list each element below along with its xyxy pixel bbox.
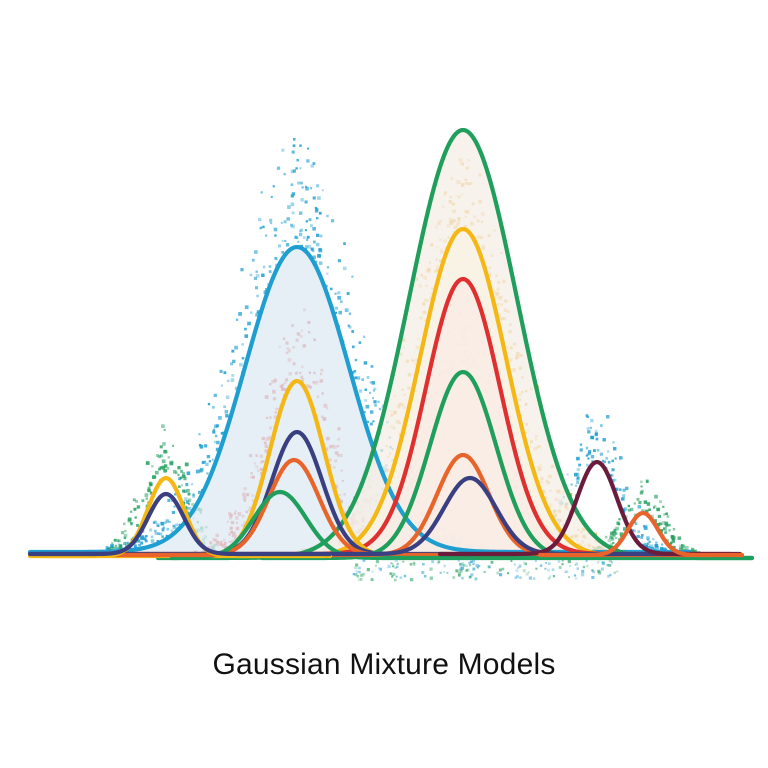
stipple-dot [400,576,403,579]
stipple-dot [231,350,234,353]
stipple-dot [569,565,571,567]
stipple-dot [167,499,170,502]
stipple-dot [185,462,189,466]
stipple-dot [679,545,683,549]
stipple-dot [140,537,143,540]
stipple-dot [310,224,313,227]
stipple-dot [352,346,355,349]
stipple-dot [337,291,340,294]
stipple-dot [602,561,604,563]
stipple-dot [309,218,312,221]
stipple-dot [196,470,200,474]
stipple-dot [287,205,291,209]
stipple-dot [609,574,611,576]
stipple-dot [510,560,512,562]
stipple-dot [295,167,297,169]
stipple-dot [359,341,362,344]
stipple-dot [297,182,300,185]
stipple-dot [258,218,261,221]
stipple-dot [371,365,374,368]
stipple-dot [281,149,284,152]
stipple-dot [354,376,357,379]
stipple-dot [499,568,502,571]
stipple-dot [355,563,358,566]
stipple-dot [358,567,361,570]
stipple-dot [231,374,234,377]
stipple-dot [318,248,322,252]
stipple-dot [611,537,614,540]
stipple-dot [257,312,259,314]
stipple-dot [581,570,584,573]
stipple-dot [611,460,614,463]
stipple-dot [157,532,160,535]
stipple-dot [297,241,299,243]
stipple-dot [157,525,159,527]
stipple-dot [260,227,263,230]
stipple-dot [356,567,358,569]
stipple-dot [455,569,458,572]
stipple-dot [431,560,434,563]
stipple-dot [327,266,329,268]
stipple-dot [548,562,551,565]
stipple-dot [231,378,235,382]
stipple-dot [181,484,183,486]
stipple-dot [299,144,301,146]
stipple-dot [173,525,176,528]
stipple-dot [575,577,577,579]
stipple-dot [396,576,398,578]
stipple-dot [250,274,253,277]
stipple-dot [664,531,667,534]
stipple-dot [213,429,215,431]
stipple-dot [465,570,467,572]
stipple-dot [306,239,308,241]
stipple-dot [496,572,499,575]
stipple-dot [612,441,614,443]
stipple-dot [261,274,264,277]
stipple-dot [662,506,664,508]
stipple-dot [161,535,163,537]
stipple-dot [199,444,202,447]
stipple-dot [422,563,425,566]
stipple-dot [404,575,406,577]
stipple-dot [294,236,297,239]
stipple-dot [153,522,155,524]
stipple-dot [667,515,670,518]
stipple-dot [291,194,294,197]
stipple-dot [252,259,255,262]
stipple-dot [322,189,324,191]
stipple-dot [519,576,522,579]
stipple-dot [370,410,373,413]
stipple-dot [561,563,564,566]
stipple-dot [114,539,117,542]
stipple-dot [607,450,609,452]
stipple-dot [166,519,169,522]
stipple-dot [173,506,175,508]
stipple-dot [640,491,643,494]
stipple-dot [273,185,275,187]
stipple-dot [491,561,494,564]
stipple-dot [209,460,211,462]
stipple-dot [256,295,259,298]
stipple-dot [117,540,120,543]
curve-strokes [30,130,752,558]
stipple-dot [358,571,360,573]
stipple-dot [182,489,185,492]
stipple-dot [655,541,657,543]
stipple-dot [600,424,603,427]
stipple-dot [387,565,390,568]
stipple-dot [367,568,370,571]
stipple-dot [291,170,294,173]
stipple-dot [637,530,640,533]
stipple-dot [586,560,588,562]
stipple-dot [593,449,596,452]
stipple-dot [438,560,440,562]
stipple-dot [669,529,671,531]
stipple-dot [663,513,665,515]
stipple-dot [351,276,353,278]
stipple-dot [145,535,147,537]
stipple-dot [343,267,347,271]
stipple-dot [281,222,283,224]
stipple-dot [608,461,611,464]
stipple-dot [191,483,193,485]
stipple-dot [590,419,593,422]
stipple-dot [242,357,245,360]
stipple-dot [204,444,207,447]
stipple-dot [313,196,316,199]
stipple-dot [363,573,366,576]
stipple-dot [363,559,366,562]
stipple-dot [164,429,166,431]
stipple-dot [587,457,589,459]
stipple-dot [461,567,464,570]
stipple-dot [379,408,381,410]
stipple-dot [305,200,308,203]
stipple-dot [580,448,583,451]
stipple-dot [574,574,576,576]
stipple-dot [577,468,580,471]
stipple-dot [612,542,614,544]
stipple-dot [628,505,630,507]
stipple-dot [239,363,243,367]
stipple-dot [605,457,608,460]
stipple-dot [652,538,654,540]
stipple-dot [354,567,357,570]
stipple-dot [277,167,280,170]
stipple-dot [548,577,551,580]
stipple-dot [291,225,295,229]
stipple-dot [575,485,577,487]
stipple-dot [311,164,314,167]
stipple-dot [567,473,569,475]
stipple-dot [115,545,118,548]
stipple-dot [291,203,295,207]
stipple-dot [226,395,229,398]
stipple-dot [347,292,350,295]
stipple-dot [371,578,374,581]
stipple-dot [380,569,382,571]
stipple-dot [187,471,191,475]
stipple-dot [218,416,222,420]
stipple-dot [296,159,299,162]
stipple-dot [570,483,572,485]
stipple-dot [470,561,472,563]
stipple-dot [150,492,152,494]
stipple-dot [151,539,155,543]
stipple-dot [244,328,247,331]
stipple-dot [377,401,379,403]
stipple-dot [472,563,474,565]
stipple-dot [402,561,404,563]
stipple-dot [611,468,614,471]
stipple-dot [591,455,594,458]
stipple-dot [649,541,651,543]
stipple-dot [597,449,600,452]
ground-stipple [353,559,619,582]
stipple-dot [373,389,375,391]
stipple-dot [662,521,666,525]
stipple-dot [225,414,228,417]
stipple-dot [648,508,651,511]
stipple-dot [215,435,217,437]
stipple-dot [225,410,228,413]
stipple-dot [149,483,152,486]
stipple-dot [278,244,281,247]
stipple-dot [586,464,589,467]
stipple-dot [160,533,163,536]
stipple-dot [291,183,294,186]
stipple-dot [319,212,322,215]
stipple-dot [161,424,165,428]
stipple-dot [540,564,542,566]
stipple-dot [637,498,640,501]
stipple-dot [156,454,159,457]
stipple-dot [119,545,122,548]
stipple-dot [608,539,611,542]
stipple-dot [607,564,609,566]
stipple-dot [533,577,536,580]
stipple-dot [519,566,521,568]
stipple-dot [351,330,354,333]
stipple-dot [117,547,119,549]
stipple-dot [168,456,170,458]
stipple-dot [338,311,342,315]
stipple-dot [300,182,303,185]
stipple-dot [655,544,659,548]
stipple-dot [641,534,644,537]
stipple-dot [673,528,675,530]
stipple-dot [140,542,143,545]
stipple-dot [459,563,462,566]
stipple-dot [208,403,210,405]
stipple-dot [640,481,643,484]
stipple-dot [166,528,169,531]
stipple-dot [111,542,113,544]
stipple-dot [123,523,126,526]
stipple-dot [641,485,643,487]
stipple-dot [121,531,124,534]
stipple-dot [613,447,616,450]
stipple-dot [287,217,290,220]
stipple-dot [535,568,537,570]
stipple-dot [502,568,505,571]
stipple-dot [478,565,480,567]
stipple-dot [254,277,257,280]
stipple-dot [364,399,367,402]
stipple-dot [183,477,186,480]
stipple-dot [326,215,329,218]
stipple-dot [535,560,537,562]
stipple-dot [638,501,641,504]
stipple-dot [612,531,615,534]
stipple-dot [186,489,189,492]
stipple-dot [335,293,337,295]
stipple-dot [591,576,594,579]
stipple-dot [659,500,662,503]
gaussian-mixture-figure: Gaussian Mixture Models [0,0,768,768]
stipple-dot [303,236,306,239]
stipple-dot [595,430,597,432]
stipple-dot [615,479,617,481]
stipple-dot [525,563,527,565]
stipple-dot [558,560,561,563]
stipple-dot [507,572,509,574]
stipple-dot [390,562,392,564]
stipple-dot [395,559,398,562]
stipple-dot [247,322,251,326]
stipple-dot [177,466,180,469]
stipple-dot [376,560,379,563]
stipple-dot [292,151,295,154]
stipple-dot [202,461,205,464]
stipple-dot [615,527,619,531]
stipple-dot [672,536,676,540]
stipple-dot [472,568,475,571]
stipple-dot [566,570,568,572]
stipple-dot [356,570,359,573]
stipple-dot [154,530,156,532]
stipple-dot [648,546,651,549]
stipple-dot [373,400,376,403]
stipple-dot [369,392,371,394]
stipple-dot [320,235,323,238]
stipple-dot [598,571,601,574]
stipple-dot [668,524,671,527]
stipple-dot [185,483,188,486]
stipple-dot [484,571,486,573]
stipple-dot [640,536,643,539]
stipple-dot [335,307,338,310]
stipple-dot [514,563,516,565]
stipple-dot [292,211,295,214]
stipple-dot [274,234,276,236]
stipple-dot [299,167,301,169]
stipple-dot [130,511,132,513]
stipple-dot [654,495,658,499]
stipple-dot [630,508,633,511]
stipple-dot [647,538,649,540]
stipple-dot [331,219,334,222]
stipple-dot [250,311,252,313]
stipple-dot [223,371,226,374]
stipple-dot [192,495,195,498]
stipple-dot [173,470,177,474]
stipple-dot [609,559,612,562]
stipple-dot [128,517,132,521]
stipple-dot [469,576,471,578]
stipple-dot [587,427,590,430]
stipple-dot [316,243,320,247]
stipple-dot [133,508,136,511]
stipple-dot [135,500,138,503]
stipple-dot [141,499,144,502]
stipple-dot [590,427,592,429]
stipple-dot [155,532,158,535]
stipple-dot [151,536,154,539]
stipple-dot [245,305,249,309]
stipple-dot [319,261,323,265]
stipple-dot [232,360,235,363]
stipple-dot [262,226,264,228]
stipple-dot [370,422,373,425]
stipple-dot [165,450,168,453]
stipple-dot [658,515,661,518]
stipple-dot [621,497,624,500]
stipple-dot [605,536,608,539]
stipple-dot [586,565,588,567]
stipple-dot [653,507,655,509]
stipple-dot [691,548,694,551]
stipple-dot [160,466,163,469]
stipple-dot [214,394,217,397]
stipple-dot [568,576,570,578]
stipple-dot [574,473,578,477]
stipple-dot [343,242,346,245]
stipple-dot [375,565,377,567]
stipple-dot [443,571,445,573]
stipple-dot [595,432,598,435]
stipple-dot [597,561,599,563]
stipple-dot [622,494,625,497]
stipple-dot [355,359,357,361]
stipple-dot [372,381,376,385]
stipple-dot [587,416,589,418]
stipple-dot [149,528,152,531]
stipple-dot [146,461,150,465]
stipple-dot [270,222,272,224]
stipple-dot [625,487,628,490]
stipple-dot [137,505,140,508]
stipple-dot [656,508,660,512]
stipple-dot [205,463,208,466]
stipple-dot [305,245,308,248]
stipple-dot [685,546,689,550]
stipple-dot [562,560,564,562]
stipple-dot [221,432,224,435]
stipple-dot [326,273,328,275]
stipple-dot [145,493,149,497]
stipple-dot [302,186,304,188]
stipple-dot [615,537,617,539]
stipple-dot [396,566,398,568]
stipple-dot [372,397,374,399]
stipple-dot [374,404,377,407]
stipple-dot [305,229,307,231]
stipple-dot [353,573,355,575]
